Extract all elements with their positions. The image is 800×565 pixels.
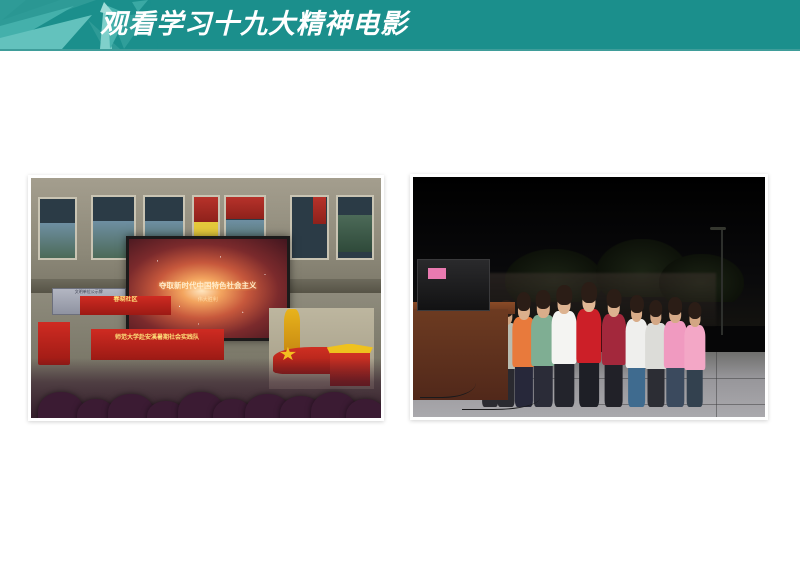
person-hair bbox=[581, 282, 597, 302]
street-lamp-pole bbox=[721, 230, 723, 336]
person-legs bbox=[686, 367, 703, 408]
seated-person bbox=[602, 280, 626, 408]
window-red-panel bbox=[226, 197, 264, 219]
photo-indoor-film-screening[interactable]: 文明单位公示牌 夺取新时代中国特色社会主义 伟大胜利 春晓社区 师范大学赴安溪暑… bbox=[28, 175, 384, 421]
person-legs bbox=[579, 359, 599, 407]
person-hair bbox=[606, 289, 621, 308]
hall-window bbox=[38, 197, 77, 259]
mural-column bbox=[284, 309, 301, 351]
person-hair bbox=[668, 297, 682, 315]
photo-right-image bbox=[413, 177, 765, 417]
projector-label-sticker bbox=[428, 268, 447, 279]
page-title: 观看学习十九大精神电影 bbox=[100, 6, 408, 44]
window-sky bbox=[338, 215, 373, 251]
seated-person bbox=[576, 273, 601, 407]
person-torso bbox=[576, 309, 601, 363]
person-hair bbox=[536, 290, 551, 309]
slide-header: 观看学习十九大精神电影 bbox=[0, 0, 800, 49]
slide-canvas: 观看学习十九大精神电影 bbox=[0, 0, 800, 565]
person-legs bbox=[628, 364, 646, 408]
person-hair bbox=[649, 300, 663, 317]
photo-outdoor-night-audience[interactable] bbox=[410, 174, 768, 420]
header-underline-divider bbox=[0, 49, 800, 51]
photo-left-image: 文明单位公示牌 夺取新时代中国特色社会主义 伟大胜利 春晓社区 师范大学赴安溪暑… bbox=[31, 178, 381, 418]
person-hair bbox=[517, 292, 531, 311]
projection-screen: 夺取新时代中国特色社会主义 伟大胜利 bbox=[126, 236, 291, 342]
person-hair bbox=[557, 285, 572, 305]
red-banner-community: 春晓社区 bbox=[80, 296, 171, 315]
red-banner-practice-team: 师范大学赴安溪暑期社会实践队 bbox=[91, 329, 224, 360]
person-legs bbox=[555, 360, 574, 407]
seated-person bbox=[684, 295, 705, 408]
hall-window bbox=[336, 195, 375, 260]
screen-title-text: 夺取新时代中国特色社会主义 bbox=[135, 280, 281, 291]
ground-seam bbox=[716, 352, 717, 417]
person-torso bbox=[602, 314, 626, 365]
hall-window bbox=[290, 195, 329, 260]
window-red-panel bbox=[194, 197, 218, 223]
window-sky bbox=[40, 223, 75, 258]
person-legs bbox=[667, 365, 684, 408]
person-hair bbox=[688, 302, 701, 319]
person-legs bbox=[647, 366, 664, 408]
person-torso bbox=[552, 311, 577, 364]
street-lamp-head bbox=[710, 227, 726, 230]
person-legs bbox=[604, 361, 623, 407]
person-torso bbox=[684, 325, 705, 370]
window-red-panel bbox=[313, 197, 327, 224]
projector-case bbox=[417, 259, 491, 312]
person-hair bbox=[629, 295, 643, 313]
seated-person bbox=[552, 276, 577, 408]
